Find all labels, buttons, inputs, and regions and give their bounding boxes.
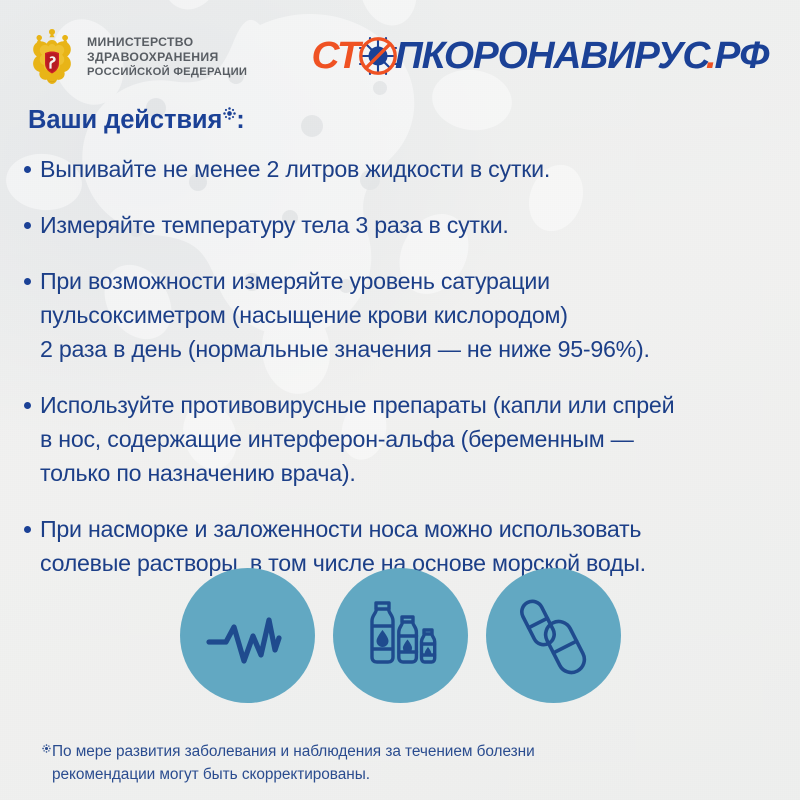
page-title-colon: : <box>236 105 244 135</box>
pills-capsules-icon <box>511 594 595 678</box>
footnote-text: По мере развития заболевания и наблюдени… <box>52 740 535 786</box>
logo-prefix-st: СТ <box>311 37 359 75</box>
logo-middle-pkoronavirus: ПКОРОНАВИРУС <box>394 37 708 75</box>
icon-badge-pills <box>486 568 621 703</box>
bullet-dot-icon <box>24 222 31 229</box>
page-title: Ваши действия : <box>28 105 245 135</box>
water-bottles-icon <box>356 594 444 678</box>
icon-row <box>0 568 800 703</box>
list-item: Используйте противовирусные препараты (к… <box>24 388 780 490</box>
header: МИНИСТЕРСТВО ЗДРАВООХРАНЕНИЯ РОССИЙСКОЙ … <box>0 0 800 100</box>
ministry-name: МИНИСТЕРСТВО ЗДРАВООХРАНЕНИЯ РОССИЙСКОЙ … <box>87 35 247 80</box>
virus-asterisk-icon <box>223 107 236 120</box>
bullet-dot-icon <box>24 402 31 409</box>
ministry-line-1: МИНИСТЕРСТВО <box>87 35 247 50</box>
ministry-line-3: РОССИЙСКОЙ ФЕДЕРАЦИИ <box>87 65 247 80</box>
virus-asterisk-icon <box>42 744 51 753</box>
icon-badge-water-bottles <box>333 568 468 703</box>
list-item: Выпивайте не менее 2 литров жидкости в с… <box>24 152 780 186</box>
russian-coat-of-arms-icon <box>28 27 76 87</box>
list-item-text: Используйте противовирусные препараты (к… <box>40 388 674 490</box>
actions-list: Выпивайте не менее 2 литров жидкости в с… <box>24 152 780 602</box>
list-item: При возможности измеряйте уровень сатура… <box>24 264 780 366</box>
logo-suffix-rf: РФ <box>715 37 769 75</box>
list-item: Измеряйте температуру тела 3 раза в сутк… <box>24 208 780 242</box>
page-title-text: Ваши действия <box>28 105 222 135</box>
footnote: По мере развития заболевания и наблюдени… <box>42 740 535 786</box>
list-item-text: При возможности измеряйте уровень сатура… <box>40 264 650 366</box>
icon-badge-heartbeat <box>180 568 315 703</box>
bullet-dot-icon <box>24 526 31 533</box>
crossed-out-virus-icon <box>356 34 400 78</box>
poster-root: МИНИСТЕРСТВО ЗДРАВООХРАНЕНИЯ РОССИЙСКОЙ … <box>0 0 800 800</box>
bullet-dot-icon <box>24 166 31 173</box>
list-item-text: Измеряйте температуру тела 3 раза в сутк… <box>40 208 509 242</box>
heartbeat-pulse-icon <box>204 598 290 674</box>
stopcoronavirus-logo[interactable]: СТ <box>312 34 769 78</box>
list-item-text: Выпивайте не менее 2 литров жидкости в с… <box>40 152 550 186</box>
bullet-dot-icon <box>24 278 31 285</box>
ministry-logo: МИНИСТЕРСТВО ЗДРАВООХРАНЕНИЯ РОССИЙСКОЙ … <box>28 27 247 87</box>
ministry-line-2: ЗДРАВООХРАНЕНИЯ <box>87 50 247 65</box>
